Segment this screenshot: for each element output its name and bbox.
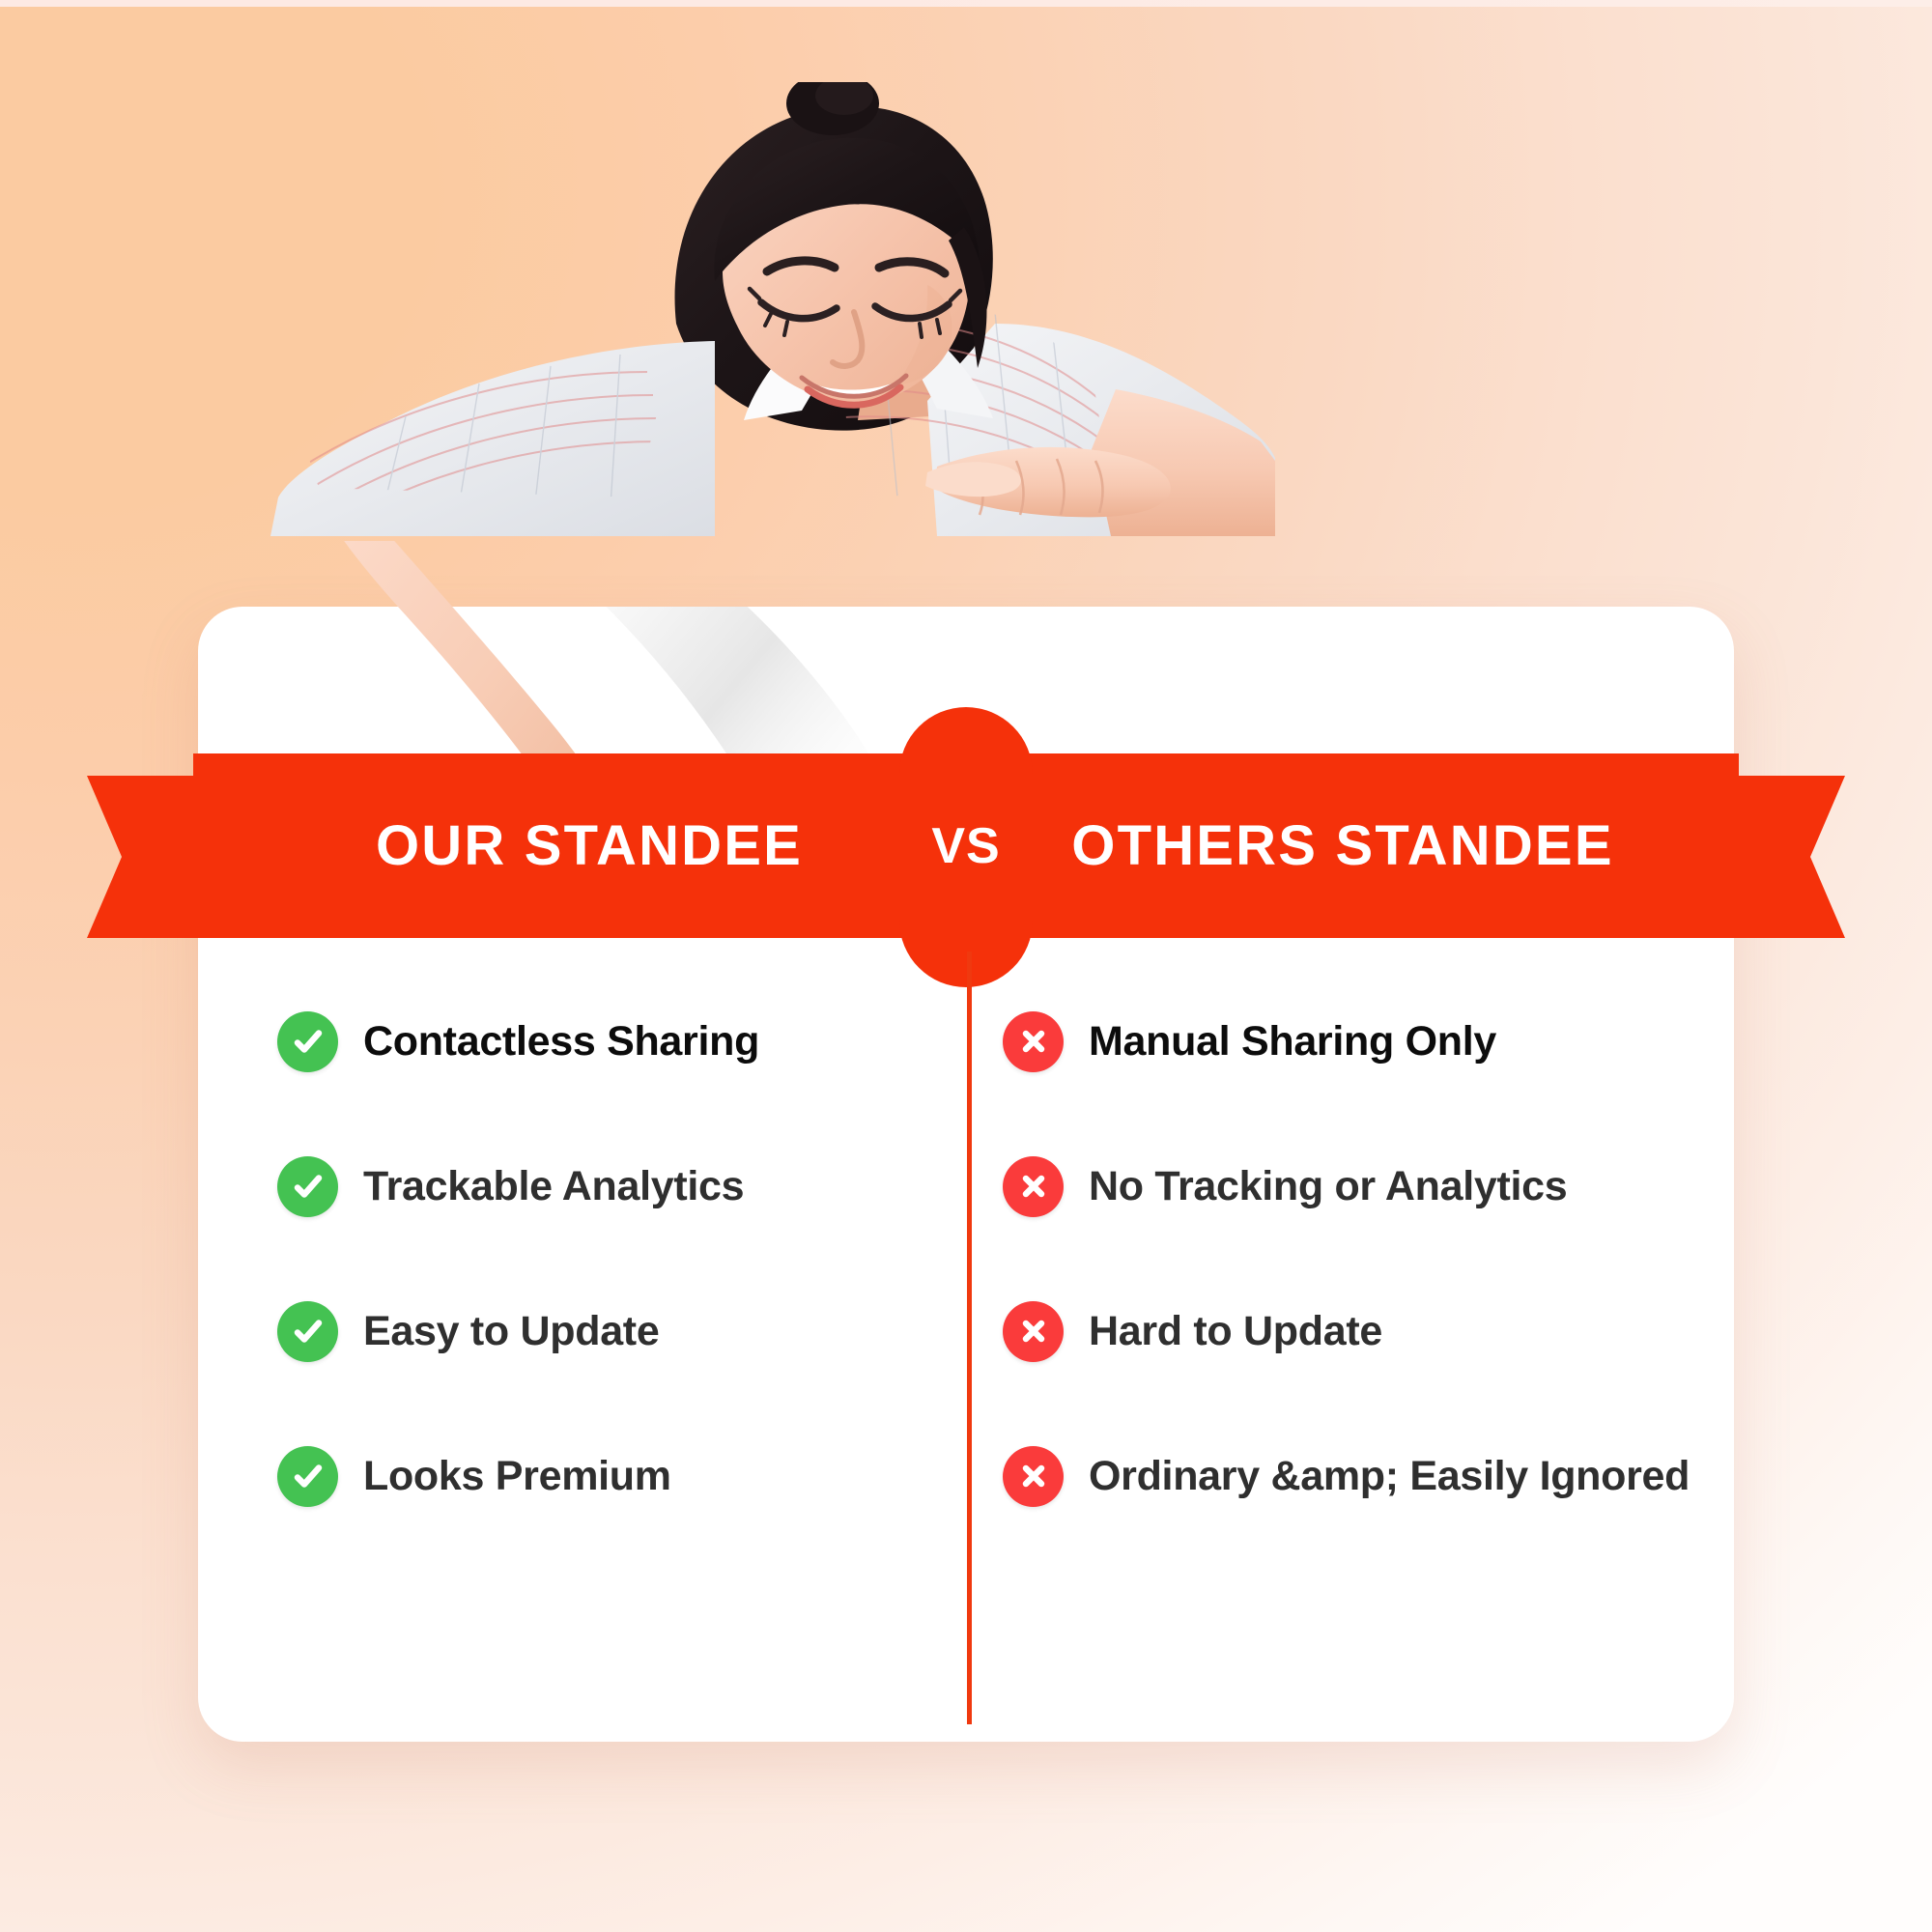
list-item-label: Looks Premium bbox=[363, 1453, 671, 1500]
x-circle-icon bbox=[1003, 1446, 1064, 1507]
check-circle-icon bbox=[277, 1446, 338, 1507]
woman-pointing-photo bbox=[261, 82, 1275, 536]
list-item: Trackable Analytics bbox=[198, 1114, 966, 1259]
list-item-label: Easy to Update bbox=[363, 1308, 659, 1355]
check-circle-icon bbox=[277, 1011, 338, 1072]
comparison-columns: Contactless Sharing Trackable Analytics … bbox=[198, 952, 1734, 1724]
list-item-label: Manual Sharing Only bbox=[1089, 1018, 1496, 1065]
list-item: Easy to Update bbox=[198, 1259, 966, 1404]
poster-background: OUR STANDEE VS OTHERS STANDEE Contactles… bbox=[0, 0, 1932, 1932]
list-item: Ordinary &amp; Easily Ignored bbox=[966, 1404, 1734, 1548]
top-highlight-strip bbox=[0, 0, 1932, 7]
ribbon-left-title: OUR STANDEE bbox=[290, 818, 889, 874]
list-item: Hard to Update bbox=[966, 1259, 1734, 1404]
list-item-label: Ordinary &amp; Easily Ignored bbox=[1089, 1453, 1690, 1500]
others-standee-column: Manual Sharing Only No Tracking or Analy… bbox=[966, 952, 1734, 1724]
ribbon-vs-label: VS bbox=[889, 821, 1043, 871]
list-item-label: Hard to Update bbox=[1089, 1308, 1382, 1355]
list-item-label: No Tracking or Analytics bbox=[1089, 1163, 1567, 1210]
x-circle-icon bbox=[1003, 1156, 1064, 1217]
list-item-label: Contactless Sharing bbox=[363, 1018, 759, 1065]
check-circle-icon bbox=[277, 1301, 338, 1362]
ribbon-titles: OUR STANDEE VS OTHERS STANDEE bbox=[193, 753, 1739, 938]
x-circle-icon bbox=[1003, 1011, 1064, 1072]
x-circle-icon bbox=[1003, 1301, 1064, 1362]
list-item: Contactless Sharing bbox=[198, 969, 966, 1114]
ribbon-right-title: OTHERS STANDEE bbox=[1043, 818, 1642, 874]
list-item: No Tracking or Analytics bbox=[966, 1114, 1734, 1259]
list-item: Looks Premium bbox=[198, 1404, 966, 1548]
list-item: Manual Sharing Only bbox=[966, 969, 1734, 1114]
our-standee-column: Contactless Sharing Trackable Analytics … bbox=[198, 952, 966, 1724]
ribbon-banner: OUR STANDEE VS OTHERS STANDEE bbox=[0, 753, 1932, 956]
check-circle-icon bbox=[277, 1156, 338, 1217]
list-item-label: Trackable Analytics bbox=[363, 1163, 744, 1210]
